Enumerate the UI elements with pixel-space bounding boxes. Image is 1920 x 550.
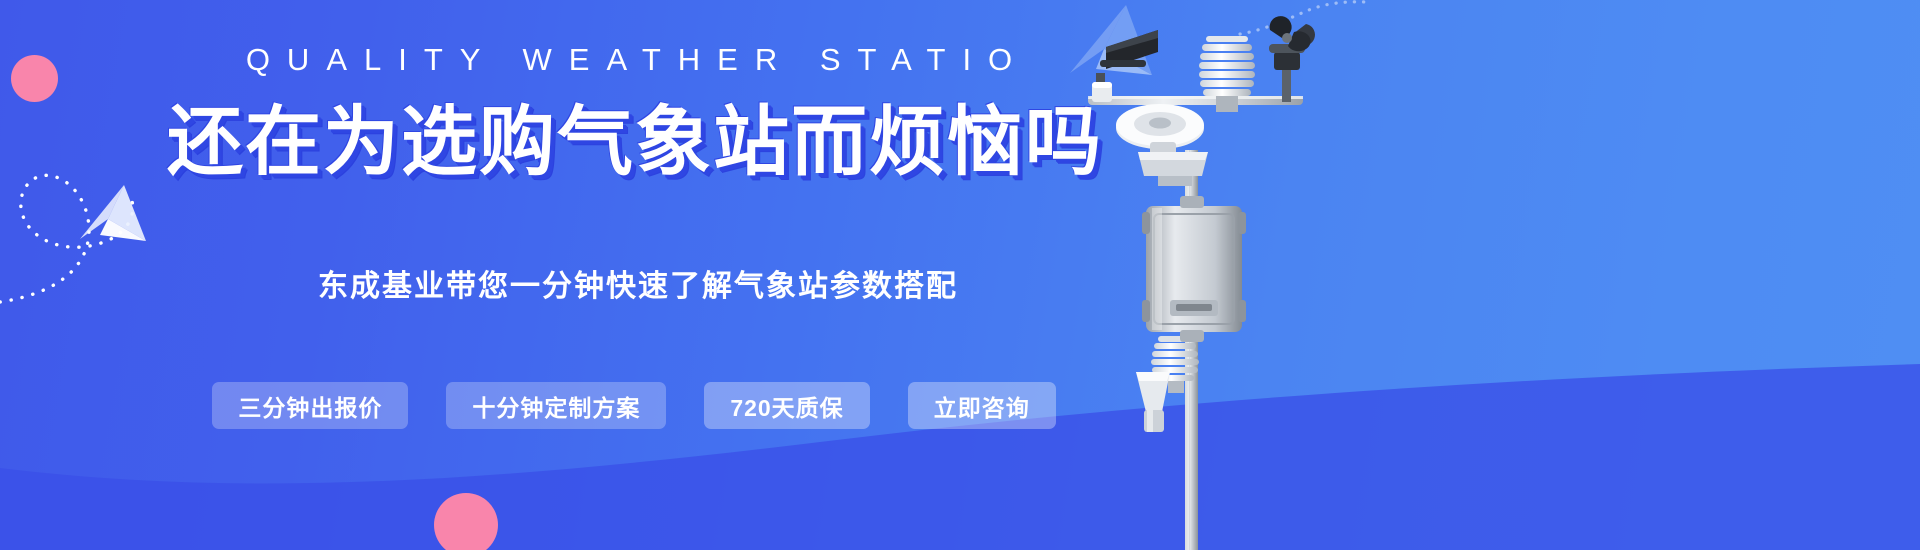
banner-eyebrow-text: QUALITY WEATHER STATIO xyxy=(0,42,1258,78)
hero-banner: QUALITY WEATHER STATIO 还在为选购气象站而烦恼吗 东成基业… xyxy=(0,0,1920,550)
cta-button-quote[interactable]: 三分钟出报价 xyxy=(212,382,408,429)
cta-button-plan[interactable]: 十分钟定制方案 xyxy=(446,382,666,429)
cta-button-consult[interactable]: 立即咨询 xyxy=(908,382,1056,429)
cta-button-warranty[interactable]: 720天质保 xyxy=(704,382,869,429)
page-title: 还在为选购气象站而烦恼吗 xyxy=(167,104,1103,182)
cta-button-row: 三分钟出报价 十分钟定制方案 720天质保 立即咨询 xyxy=(0,382,1268,429)
banner-headline-wrapper: 还在为选购气象站而烦恼吗 xyxy=(0,104,1270,182)
banner-subtitle: 东成基业带您一分钟快速了解气象站参数搭配 xyxy=(0,261,1276,305)
banner-text-block: QUALITY WEATHER STATIO 还在为选购气象站而烦恼吗 东成基业… xyxy=(0,0,1300,550)
